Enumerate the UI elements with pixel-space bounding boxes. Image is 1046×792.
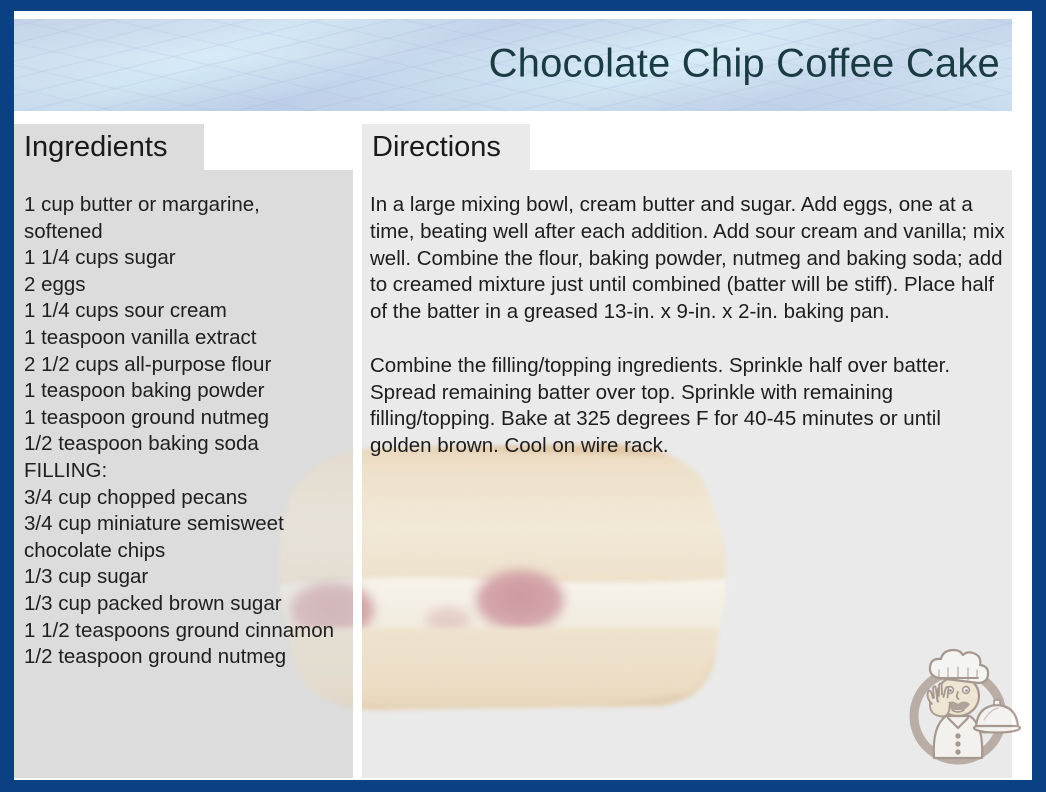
column-divider	[353, 170, 362, 778]
ingredient-item: chocolate chips	[24, 538, 353, 565]
ingredient-item: 1 1/2 teaspoons ground cinnamon	[24, 618, 353, 645]
title-banner: Chocolate Chip Coffee Cake	[14, 19, 1012, 111]
recipe-card: Chocolate Chip Coffee Cake Ingredients D…	[0, 0, 1046, 792]
ingredient-item: 2 1/2 cups all-purpose flour	[24, 352, 353, 379]
ingredient-item: 3/4 cup chopped pecans	[24, 485, 353, 512]
directions-text: In a large mixing bowl, cream butter and…	[370, 192, 1006, 487]
ingredient-item: 1/3 cup packed brown sugar	[24, 591, 353, 618]
ingredient-item: 1/2 teaspoon ground nutmeg	[24, 644, 353, 671]
ingredients-heading: Ingredients	[14, 124, 204, 170]
page-title: Chocolate Chip Coffee Cake	[489, 42, 1000, 87]
ingredient-item: softened	[24, 219, 353, 246]
ingredient-item: 1 1/4 cups sour cream	[24, 298, 353, 325]
direction-paragraph: In a large mixing bowl, cream butter and…	[370, 192, 1006, 326]
ingredient-item: 1 teaspoon baking powder	[24, 378, 353, 405]
direction-paragraph: Combine the filling/topping ingredients.…	[370, 353, 1006, 460]
ingredient-item: 3/4 cup miniature semisweet	[24, 511, 353, 538]
directions-heading: Directions	[362, 124, 530, 170]
ingredient-item: FILLING:	[24, 458, 353, 485]
ingredient-item: 1/2 teaspoon baking soda	[24, 431, 353, 458]
ingredients-list: 1 cup butter or margarine,softened1 1/4 …	[24, 192, 353, 671]
ingredient-item: 2 eggs	[24, 272, 353, 299]
ingredient-item: 1 teaspoon ground nutmeg	[24, 405, 353, 432]
ingredient-item: 1 1/4 cups sugar	[24, 245, 353, 272]
ingredients-panel: 1 cup butter or margarine,softened1 1/4 …	[14, 170, 353, 778]
directions-panel: In a large mixing bowl, cream butter and…	[362, 170, 1012, 778]
ingredient-item: 1 cup butter or margarine,	[24, 192, 353, 219]
ingredient-item: 1/3 cup sugar	[24, 564, 353, 591]
ingredient-item: 1 teaspoon vanilla extract	[24, 325, 353, 352]
